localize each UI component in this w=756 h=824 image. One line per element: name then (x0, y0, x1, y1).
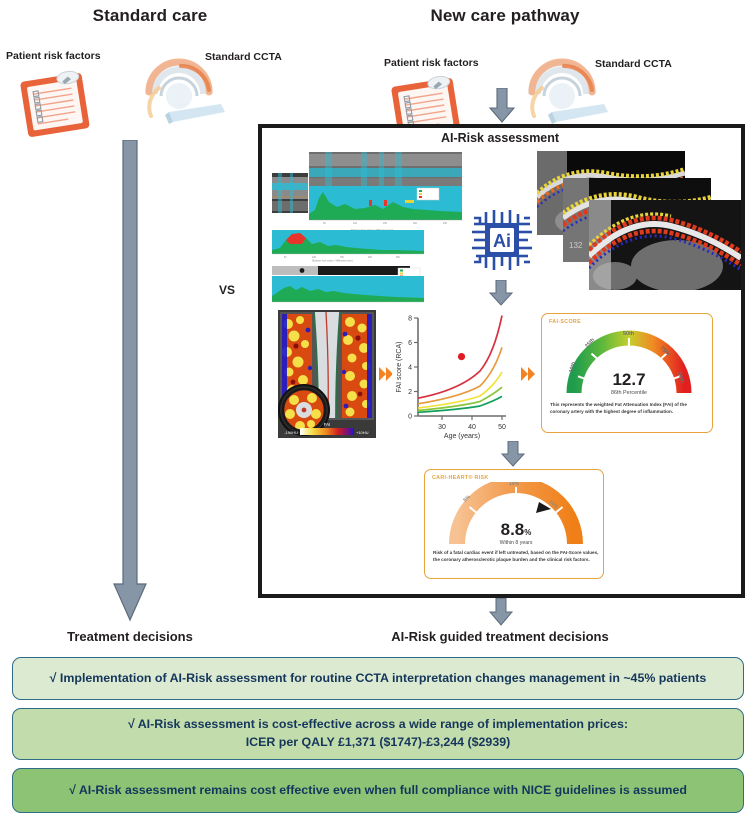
svg-text:6: 6 (408, 340, 412, 347)
svg-text:50: 50 (498, 424, 506, 431)
risk-card-description: Risk of a fatal cardiac event if left un… (433, 550, 599, 564)
statement-text: √ Implementation of AI-Risk assessment f… (38, 670, 719, 688)
risk-score-horizon: Within 8 years (500, 540, 533, 546)
fai-heatmap-artery-image: FAI -190HU +10HU (278, 310, 376, 438)
svg-text:50th: 50th (623, 331, 634, 337)
plaque-profile-chart-1: 50100150 200250 Distance from ostium - M… (272, 230, 424, 262)
svg-text:132: 132 (569, 241, 583, 250)
svg-text:2: 2 (408, 389, 412, 396)
fai-score-value: 12.7 (612, 370, 645, 389)
svg-text:250: 250 (443, 222, 448, 225)
svg-text:Distance from ostium - Millime: Distance from ostium - Millimetres (mm) (312, 260, 353, 263)
heatmap-colorbar-title: FAI (324, 422, 331, 427)
statement-text: √ AI-Risk assessment remains cost effect… (57, 782, 699, 800)
comparator-label: VS (219, 283, 235, 297)
svg-text:4: 4 (408, 365, 412, 372)
risk-score-value: 8.8% (501, 520, 532, 539)
ct-scanner-icon (508, 32, 618, 127)
fai-score-report-card: FAI-SCORE 10th (541, 313, 713, 433)
plaque-profile-chart-2 (272, 266, 424, 306)
statement-box-3: √ AI-Risk assessment remains cost effect… (12, 768, 744, 813)
ct-scanner-icon (125, 32, 235, 127)
ai-chip-label: Ai (493, 231, 511, 251)
plaque-colour-map-image-3 (589, 200, 741, 290)
statement-box-2: √ AI-Risk assessment is cost-effective a… (12, 708, 744, 760)
risk-card-kicker: CARI-HEART® RISK (432, 475, 489, 481)
statement-text: √ AI-Risk assessment is cost-effective a… (116, 716, 640, 752)
fai-gauge: 10th 25th 50th 75th 90th 12.7 86th Perce… (560, 327, 698, 404)
svg-text:10%: 10% (509, 482, 520, 487)
clipboard-icon (14, 68, 109, 143)
cari-heart-risk-report-card: CARI-HEART® RISK 5% 10% 15% (424, 469, 604, 579)
chevron-right-icon (521, 366, 537, 382)
left-column-title: Standard care (40, 6, 260, 26)
fai-score-percentile: 86th Percentile (611, 390, 647, 396)
arrow-chip-to-results (488, 280, 514, 306)
fai-card-kicker: FAI-SCORE (549, 319, 581, 325)
risk-gauge: 5% 10% 15% 8.8% Within 8 years (443, 482, 589, 555)
fai-card-description: This represents the weighted Fat Attenua… (550, 402, 706, 416)
svg-text:Age (years): Age (years) (444, 433, 480, 440)
patient-data-point (458, 353, 465, 360)
svg-text:200: 200 (413, 222, 418, 225)
arrow-box-to-decisions (488, 598, 514, 626)
statement-box-1: √ Implementation of AI-Risk assessment f… (12, 657, 744, 700)
right-risk-factors-label: Patient risk factors (384, 57, 479, 69)
left-decision-label: Treatment decisions (55, 629, 205, 644)
svg-text:150: 150 (383, 222, 388, 225)
svg-text:0: 0 (408, 414, 412, 421)
ai-box-title: AI-Risk assessment (340, 131, 660, 145)
arrow-to-risk-card (500, 441, 526, 467)
svg-text:8: 8 (408, 316, 412, 323)
svg-text:+10HU: +10HU (356, 430, 369, 435)
right-column-title: New care pathway (390, 6, 620, 26)
ccta-straightened-vessel-image: 50100 150200250 Distance from ostium - M… (309, 152, 462, 237)
svg-text:40: 40 (468, 424, 476, 431)
left-risk-factors-label: Patient risk factors (6, 50, 101, 62)
svg-text:30: 30 (438, 424, 446, 431)
standard-care-flow-arrow (112, 140, 148, 622)
svg-text:100: 100 (353, 222, 358, 225)
fai-score-age-chart: 02 468 304050 Age (years) FAI score (RCA… (392, 308, 510, 440)
arrow-to-ai-box (488, 88, 516, 124)
ai-chip-icon: Ai (470, 208, 534, 272)
svg-text:FAI score (RCA): FAI score (RCA) (396, 342, 403, 393)
ccta-cross-section-image (272, 173, 308, 228)
svg-text:-190HU: -190HU (284, 430, 298, 435)
right-decision-label: AI-Risk guided treatment decisions (340, 629, 660, 644)
